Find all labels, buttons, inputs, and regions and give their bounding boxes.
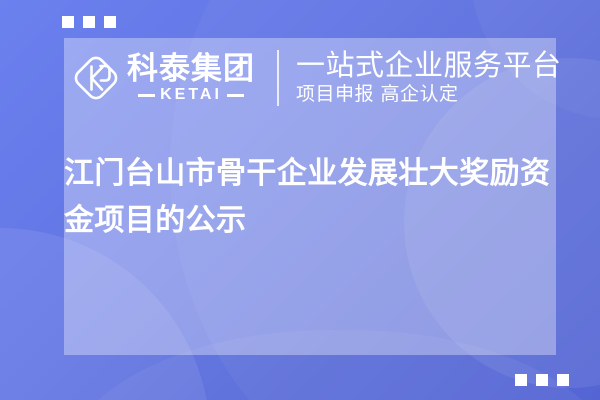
slogan-block: 一站式企业服务平台 项目申报 高企认定 [296, 49, 562, 107]
decorative-squares-top-left [62, 16, 116, 28]
banner-header: 科泰集团 KETAI 一站式企业服务平台 项目申报 高企认定 [64, 38, 556, 118]
headline-title: 江门台山市骨干企业发展壮大奖励资金项目的公示 [64, 150, 564, 245]
brand-name-en: KETAI [160, 87, 222, 103]
decorative-square [83, 16, 95, 28]
brand-name-en-row: KETAI [127, 87, 255, 103]
ketai-diamond-kp-monogram-icon [69, 51, 123, 105]
decorative-square [536, 374, 548, 386]
dash-left-icon [138, 94, 155, 97]
brand-logo[interactable]: 科泰集团 KETAI [69, 51, 255, 105]
dash-right-icon [227, 94, 244, 97]
brand-name-cn: 科泰集团 [127, 54, 255, 86]
promo-banner: 科泰集团 KETAI 一站式企业服务平台 项目申报 高企认定 江门台山市骨干企业… [0, 0, 600, 400]
decorative-square [62, 16, 74, 28]
brand-logo-text: 科泰集团 KETAI [127, 54, 255, 104]
vertical-divider [277, 50, 279, 106]
slogan-sub: 项目申报 高企认定 [296, 83, 562, 107]
decorative-square [104, 16, 116, 28]
decorative-square [557, 374, 569, 386]
decorative-square [515, 374, 527, 386]
decorative-squares-bottom-right [515, 374, 569, 386]
slogan-main: 一站式企业服务平台 [296, 49, 562, 81]
